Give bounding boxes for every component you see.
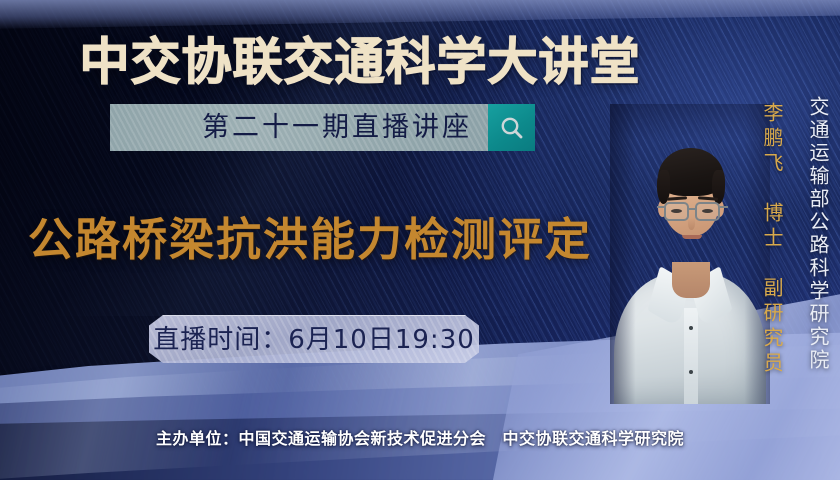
neck	[672, 262, 710, 298]
subtitle-label: 第二十一期直播讲座	[202, 114, 472, 141]
glasses-lens-left	[664, 202, 689, 221]
search-button[interactable]	[488, 104, 535, 151]
live-time-badge: 直播时间：6月10日19:30	[149, 315, 479, 363]
livestream-poster: 中交协联交通科学大讲堂 第二十一期直播讲座 公路桥梁抗洪能力检测评定 直播时间：…	[0, 0, 840, 480]
portrait-clip	[610, 104, 770, 404]
organizer-footer: 主办单位：中国交通运输协会新技术促进分会 中交协联交通科学研究院	[0, 425, 840, 449]
speaker-name: 李鹏飞 博士 副研究员	[761, 102, 782, 377]
shirt-button	[689, 370, 693, 374]
glasses-lens-right	[695, 202, 720, 221]
speaker-portrait	[610, 104, 770, 404]
mouth	[682, 235, 702, 239]
subtitle-bar: 第二十一期直播讲座	[110, 104, 535, 151]
live-time-label: 直播时间：6月10日19:30	[153, 327, 475, 353]
subtitle-plate: 第二十一期直播讲座	[110, 104, 488, 151]
speaker-organization: 交通运输部公路科学研究院	[807, 96, 828, 372]
glasses-temple-right	[720, 206, 728, 208]
page-title: 中交协联交通科学大讲堂	[0, 22, 720, 94]
search-icon	[499, 115, 525, 141]
lecture-headline: 公路桥梁抗洪能力检测评定	[28, 203, 592, 268]
nose	[688, 218, 695, 230]
glasses-bridge	[689, 208, 695, 210]
shirt-button	[689, 326, 693, 330]
shirt-placket	[684, 308, 698, 404]
